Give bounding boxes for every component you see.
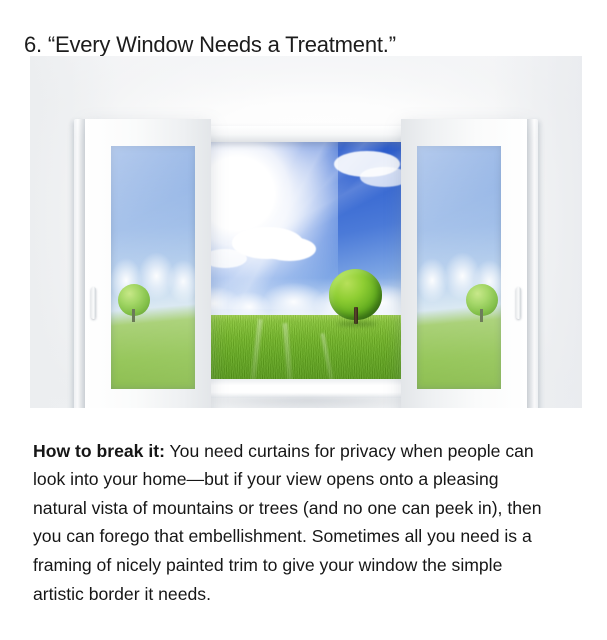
body-paragraph: How to break it: You need curtains for p… xyxy=(33,437,557,609)
sash-outer-stile xyxy=(527,119,538,408)
glass-glare xyxy=(417,146,501,389)
cloud xyxy=(263,237,316,261)
cloud-band xyxy=(196,278,418,319)
grass-field xyxy=(196,315,418,381)
window-illustration xyxy=(30,56,582,408)
glass-glare xyxy=(111,146,195,389)
sash-glass-pane xyxy=(111,146,195,389)
window-sash-left[interactable] xyxy=(85,119,211,408)
sash-outer-stile xyxy=(74,119,85,408)
window-opening-view xyxy=(196,141,418,381)
window-head-jamb xyxy=(178,126,436,142)
window-sash-right[interactable] xyxy=(401,119,527,408)
tree xyxy=(329,269,382,320)
window-handle-icon[interactable] xyxy=(516,287,521,319)
window-handle-icon[interactable] xyxy=(91,287,96,319)
window-sill-shadow xyxy=(180,397,436,408)
body-copy: You need curtains for privacy when peopl… xyxy=(33,441,542,604)
body-lead-in: How to break it: xyxy=(33,441,165,461)
sash-glass-pane xyxy=(417,146,501,389)
page-title: 6. “Every Window Needs a Treatment.” xyxy=(24,32,584,58)
